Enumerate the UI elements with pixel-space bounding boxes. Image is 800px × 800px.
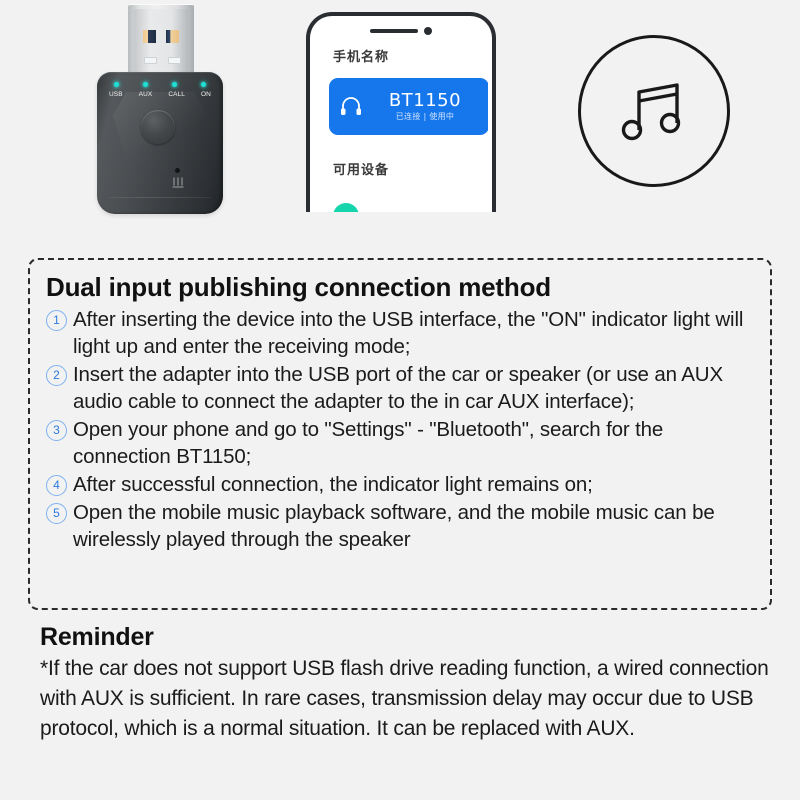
front-camera-icon: [424, 27, 432, 35]
reminder-section: Reminder *If the car does not support US…: [40, 622, 780, 744]
instruction-step: 5 Open the mobile music playback softwar…: [46, 499, 756, 553]
step-text: Open the mobile music playback software,…: [73, 499, 756, 553]
step-number-badge: 4: [46, 475, 67, 496]
microphone-hole-icon: [175, 168, 180, 173]
instructions-panel: Dual input publishing connection method …: [28, 258, 772, 610]
step-number-badge: 1: [46, 310, 67, 331]
step-number-badge: 2: [46, 365, 67, 386]
aux-jack-icon: [169, 176, 187, 192]
usb-bluetooth-adapter: USB AUX CALL ON: [95, 4, 225, 216]
instruction-step: 1 After inserting the device into the US…: [46, 306, 756, 360]
usb-a-connector-icon: [128, 4, 194, 82]
phone-screen: 手机名称 BT1150 已连接 | 使用中 可用设备: [314, 20, 488, 212]
step-text: After successful connection, the indicat…: [73, 471, 756, 498]
instructions-title: Dual input publishing connection method: [46, 272, 756, 302]
step-number-badge: 3: [46, 420, 67, 441]
led-on-icon: [201, 82, 206, 87]
adapter-multifunction-button: [141, 110, 175, 144]
led-aux-icon: [143, 82, 148, 87]
led-label-row: USB AUX CALL ON: [109, 91, 211, 98]
reminder-title: Reminder: [40, 622, 780, 652]
led-indicator-row: [111, 82, 209, 87]
step-text: After inserting the device into the USB …: [73, 306, 756, 360]
music-badge: [578, 35, 730, 187]
step-number-badge: 5: [46, 503, 67, 524]
led-label-call: CALL: [168, 91, 185, 98]
adapter-body: USB AUX CALL ON: [97, 72, 223, 214]
reminder-body: *If the car does not support USB flash d…: [40, 654, 780, 744]
instruction-step: 3 Open your phone and go to "Settings" -…: [46, 416, 756, 470]
available-device-avatar: [333, 203, 359, 212]
phone-mockup: 手机名称 BT1150 已连接 | 使用中 可用设备: [306, 12, 496, 212]
headphone-icon: [329, 97, 367, 117]
phone-name-section-title: 手机名称: [333, 46, 389, 65]
step-text: Open your phone and go to "Settings" - "…: [73, 416, 756, 470]
step-text: Insert the adapter into the USB port of …: [73, 361, 756, 415]
led-usb-icon: [114, 82, 119, 87]
connected-device-status: 已连接 | 使用中: [367, 111, 483, 122]
led-label-usb: USB: [109, 91, 123, 98]
instruction-step: 4 After successful connection, the indic…: [46, 471, 756, 498]
instruction-step: 2 Insert the adapter into the USB port o…: [46, 361, 756, 415]
led-label-on: ON: [201, 91, 211, 98]
led-call-icon: [172, 82, 177, 87]
product-image-strip: USB AUX CALL ON 手机名称: [0, 0, 800, 238]
available-devices-section-title: 可用设备: [333, 159, 389, 178]
connected-device-name: BT1150: [367, 91, 483, 111]
music-note-icon: [611, 68, 697, 154]
led-label-aux: AUX: [139, 91, 153, 98]
instruction-step-list: 1 After inserting the device into the US…: [46, 306, 756, 553]
phone-notch: [361, 25, 441, 36]
bluetooth-connected-device-card[interactable]: BT1150 已连接 | 使用中: [329, 78, 488, 135]
earpiece-speaker-icon: [370, 29, 418, 33]
